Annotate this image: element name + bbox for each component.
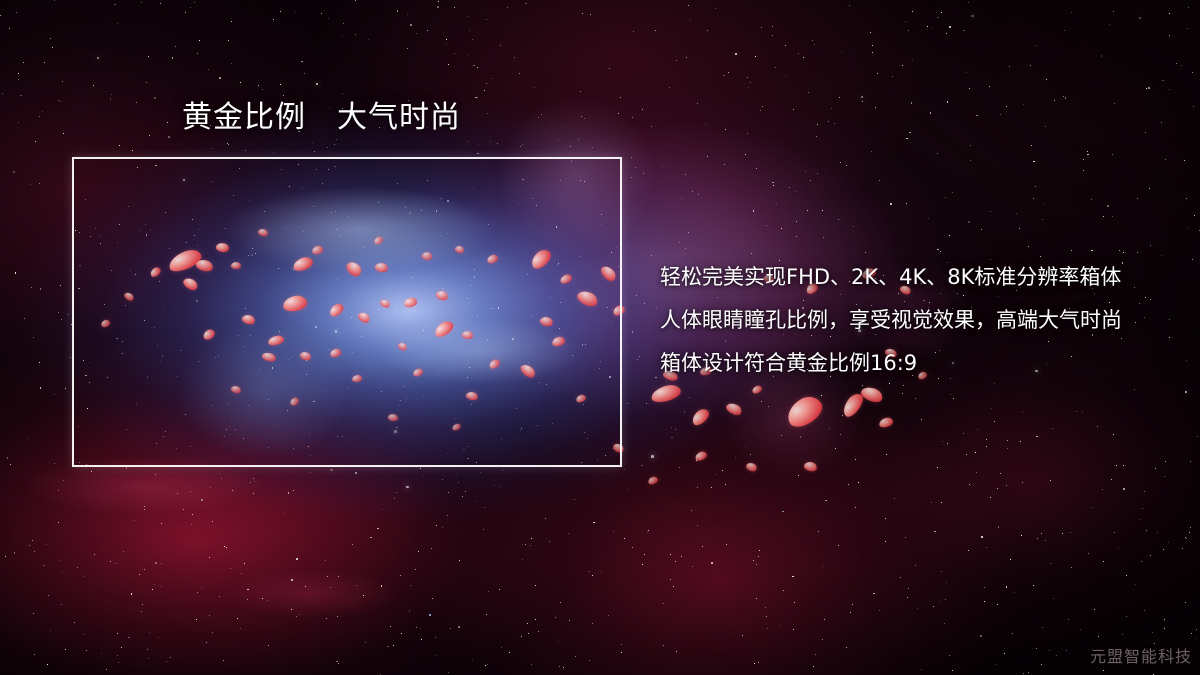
page-title: 黄金比例 大气时尚 [182, 101, 461, 134]
body-text-block: 轻松完美实现FHD、2K、4K、8K标准分辨率箱体 人体眼睛瞳孔比例，享受视觉效… [660, 256, 1180, 385]
watermark: 元盟智能科技 [1090, 643, 1192, 667]
presentation-slide: 黄金比例 大气时尚 轻松完美实现FHD、2K、4K、8K标准分辨率箱体 人体眼睛… [0, 0, 1200, 675]
body-line: 箱体设计符合黄金比例16:9 [660, 342, 1180, 385]
body-line: 轻松完美实现FHD、2K、4K、8K标准分辨率箱体 [660, 256, 1180, 299]
image-placeholder-frame[interactable] [72, 157, 622, 467]
body-line: 人体眼睛瞳孔比例，享受视觉效果，高端大气时尚 [660, 299, 1180, 342]
